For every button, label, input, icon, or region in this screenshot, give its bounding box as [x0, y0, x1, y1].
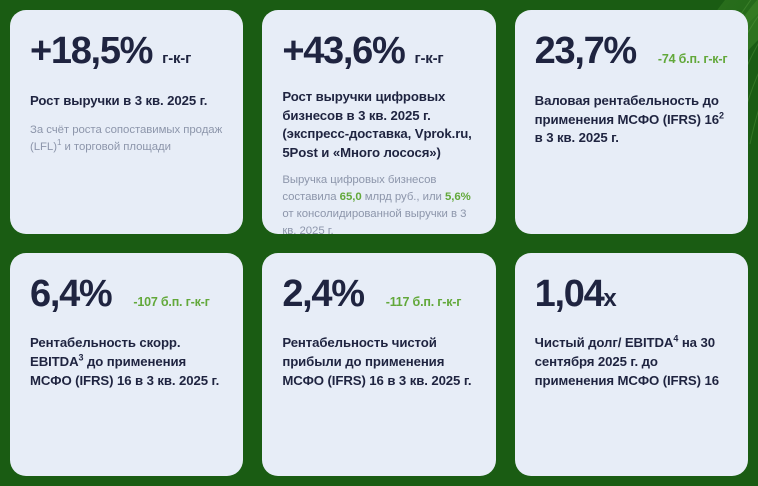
metric-headline: +18,5% г-к-г — [30, 32, 223, 72]
metric-headline: 6,4% -107 б.п. г-к-г — [30, 275, 223, 315]
metric-headline: 2,4% -117 б.п. г-к-г — [282, 275, 475, 315]
metric-card-net-debt-ebitda: 1,04x Чистый долг/ EBITDA4 на 30 сентябр… — [515, 253, 748, 477]
metric-suffix: г-к-г — [414, 50, 443, 67]
note-text-tail: от консолидированной выручки в 3 кв. 202… — [282, 208, 466, 233]
metric-change: -117 б.п. г-к-г — [386, 295, 462, 309]
metric-card-revenue-growth: +18,5% г-к-г Рост выручки в 3 кв. 2025 г… — [10, 10, 243, 234]
metric-value: 1,04x — [535, 275, 617, 315]
footnote-marker: 2 — [719, 110, 724, 120]
metric-card-adj-ebitda-margin: 6,4% -107 б.п. г-к-г Рентабельность скор… — [10, 253, 243, 477]
metric-value: 6,4% — [30, 275, 111, 315]
note-highlight-amount: 65,0 — [340, 191, 362, 203]
metric-change: -107 б.п. г-к-г — [133, 295, 209, 309]
metric-card-digital-revenue-growth: +43,6% г-к-г Рост выручки цифровых бизне… — [262, 10, 495, 234]
metric-headline: 1,04x — [535, 275, 728, 315]
metric-unit: x — [603, 285, 616, 312]
title-text-tail: в 3 кв. 2025 г. — [535, 130, 619, 145]
metric-suffix: г-к-г — [162, 50, 191, 67]
metric-headline: +43,6% г-к-г — [282, 32, 475, 72]
card-title: Рентабельность чистой прибыли до примене… — [282, 334, 475, 390]
metric-change: -74 б.п. г-к-г — [658, 52, 727, 66]
card-title: Рентабельность скорр. EBITDA3 до примене… — [30, 334, 223, 390]
metric-value: +18,5% — [30, 32, 152, 72]
card-title: Рост выручки в 3 кв. 2025 г. — [30, 92, 223, 111]
note-text-tail: и торговой площади — [61, 141, 171, 153]
card-title: Валовая рентабельность до применения МСФ… — [535, 92, 728, 148]
metric-value: 2,4% — [282, 275, 363, 315]
metric-value: +43,6% — [282, 32, 404, 72]
metric-number: 1,04 — [535, 273, 604, 315]
card-note: Выручка цифровых бизнесов составила 65,0… — [282, 172, 475, 234]
metrics-grid: +18,5% г-к-г Рост выручки в 3 кв. 2025 г… — [10, 10, 748, 476]
note-highlight-share: 5,6% — [445, 191, 471, 203]
card-title: Рост выручки цифровых бизнесов в 3 кв. 2… — [282, 88, 475, 163]
metric-value: 23,7% — [535, 32, 636, 72]
metric-card-gross-margin: 23,7% -74 б.п. г-к-г Валовая рентабельно… — [515, 10, 748, 234]
card-title: Чистый долг/ EBITDA4 на 30 сентября 2025… — [535, 334, 728, 390]
metric-card-net-profit-margin: 2,4% -117 б.п. г-к-г Рентабельность чист… — [262, 253, 495, 477]
title-text: Валовая рентабельность до применения МСФ… — [535, 93, 719, 127]
metric-headline: 23,7% -74 б.п. г-к-г — [535, 32, 728, 72]
card-note: За счёт роста сопоставимых продаж (LFL)1… — [30, 122, 223, 156]
note-text-mid: млрд руб., или — [362, 191, 445, 203]
title-text: Чистый долг/ EBITDA — [535, 335, 674, 350]
